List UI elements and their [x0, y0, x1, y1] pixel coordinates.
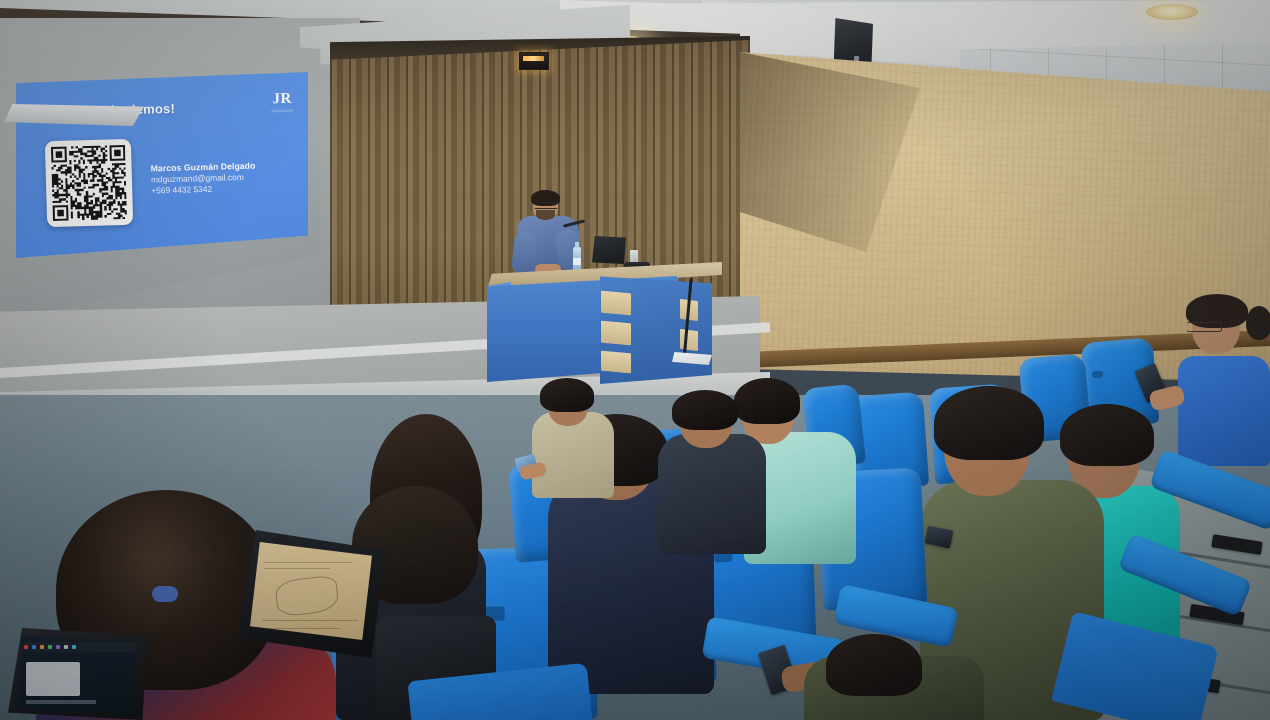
bottle-label: [573, 258, 581, 265]
desk-insert-panel: [601, 351, 631, 374]
laptop-screen: [18, 636, 136, 714]
attendee-laptop[interactable]: [238, 530, 386, 658]
attendee-body-dark: [658, 434, 766, 554]
jr-logo: JR ABOGADOS: [271, 92, 294, 114]
attendee-hair: [1060, 404, 1154, 466]
recessed-light-icon: [1146, 4, 1198, 20]
hair-tie: [152, 586, 178, 602]
document-sketch: [274, 575, 339, 617]
desk-insert-panel: [601, 321, 631, 346]
contact-block: Marcos Guzmán Delgado mdguzmand@gmail.co…: [151, 161, 257, 197]
attendee-hair: [672, 390, 738, 430]
stair-tread: [1211, 534, 1262, 555]
attendee-hair: [826, 634, 922, 696]
attendee-body: [1178, 356, 1270, 466]
laptop-taskbar[interactable]: [18, 642, 136, 652]
wall-light-fixture: [519, 52, 549, 70]
presenter-beard: [536, 210, 555, 220]
attendee-hair: [734, 378, 800, 424]
attendee-head: [1246, 306, 1270, 340]
jr-logo-mark: JR: [271, 92, 294, 108]
jr-logo-subtext: ABOGADOS: [272, 109, 295, 114]
glasses-icon: [534, 202, 558, 209]
presenter-laptop: [592, 236, 626, 264]
desk-insert-panel: [601, 291, 631, 316]
attendee-laptop[interactable]: [8, 628, 148, 720]
presentation-slide: ¡Charlemos! JR ABOGADOS Marcos Guzmán De…: [16, 72, 308, 258]
laptop-screen: [250, 542, 372, 640]
contact-phone: +569 4432 5342: [151, 183, 256, 197]
glasses-icon: [1186, 322, 1222, 332]
attendee-hair: [540, 378, 594, 412]
attendee-hair: [934, 386, 1044, 460]
auditorium-photo: ¡Charlemos! JR ABOGADOS Marcos Guzmán De…: [0, 0, 1270, 720]
qr-code-canvas: [51, 145, 127, 221]
qr-code: [45, 139, 133, 227]
water-bottle: [573, 247, 581, 273]
